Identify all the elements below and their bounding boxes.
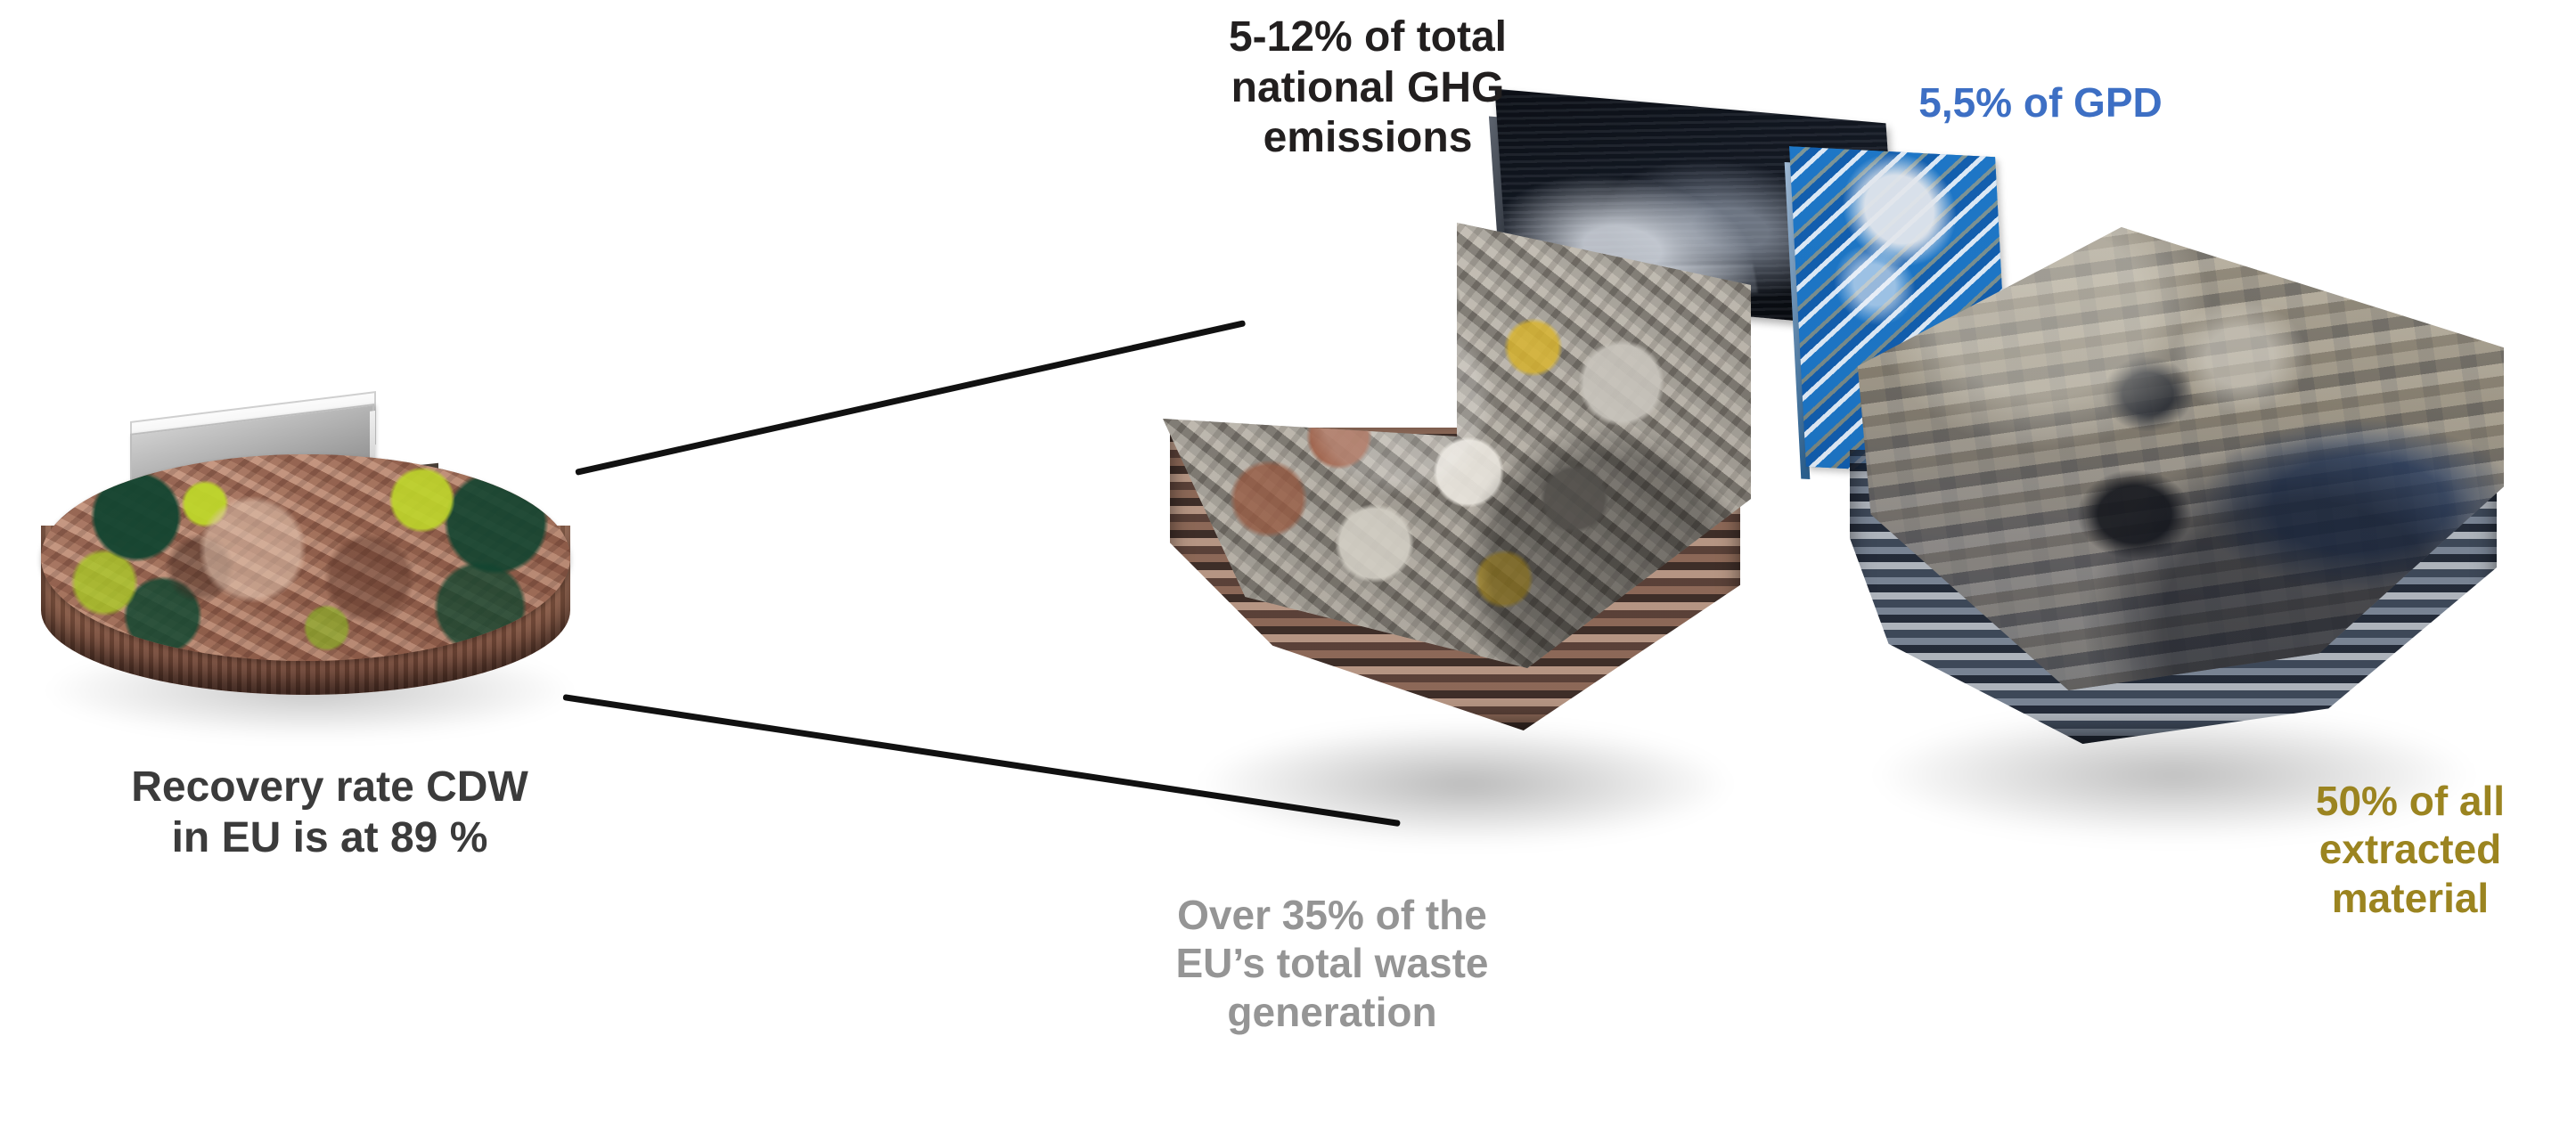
drop-shadow <box>1190 722 1742 846</box>
label-gpd-share: 5,5% of GPD <box>1844 78 2237 126</box>
label-eu-total-waste-generation: Over 35% of the EU’s total waste generat… <box>1092 891 1573 1036</box>
pie-slice-eu-total-waste[interactable] <box>1136 223 1813 882</box>
label-recovery-rate-cdw: Recovery rate CDW in EU is at 89 % <box>27 763 633 863</box>
infographic-canvas: 5-12% of total national GHG emissions 5,… <box>0 0 2576 1134</box>
disc-top-surface <box>41 454 570 661</box>
demolition-waste-texture <box>41 454 570 661</box>
label-extracted-material: 50% of all extracted material <box>2245 777 2575 922</box>
pie-slice-extracted-material[interactable] <box>1827 227 2531 869</box>
label-ghg-emissions: 5-12% of total national GHG emissions <box>1118 12 1617 164</box>
pie-slice-recovery-rate-cdw[interactable] <box>16 419 604 757</box>
